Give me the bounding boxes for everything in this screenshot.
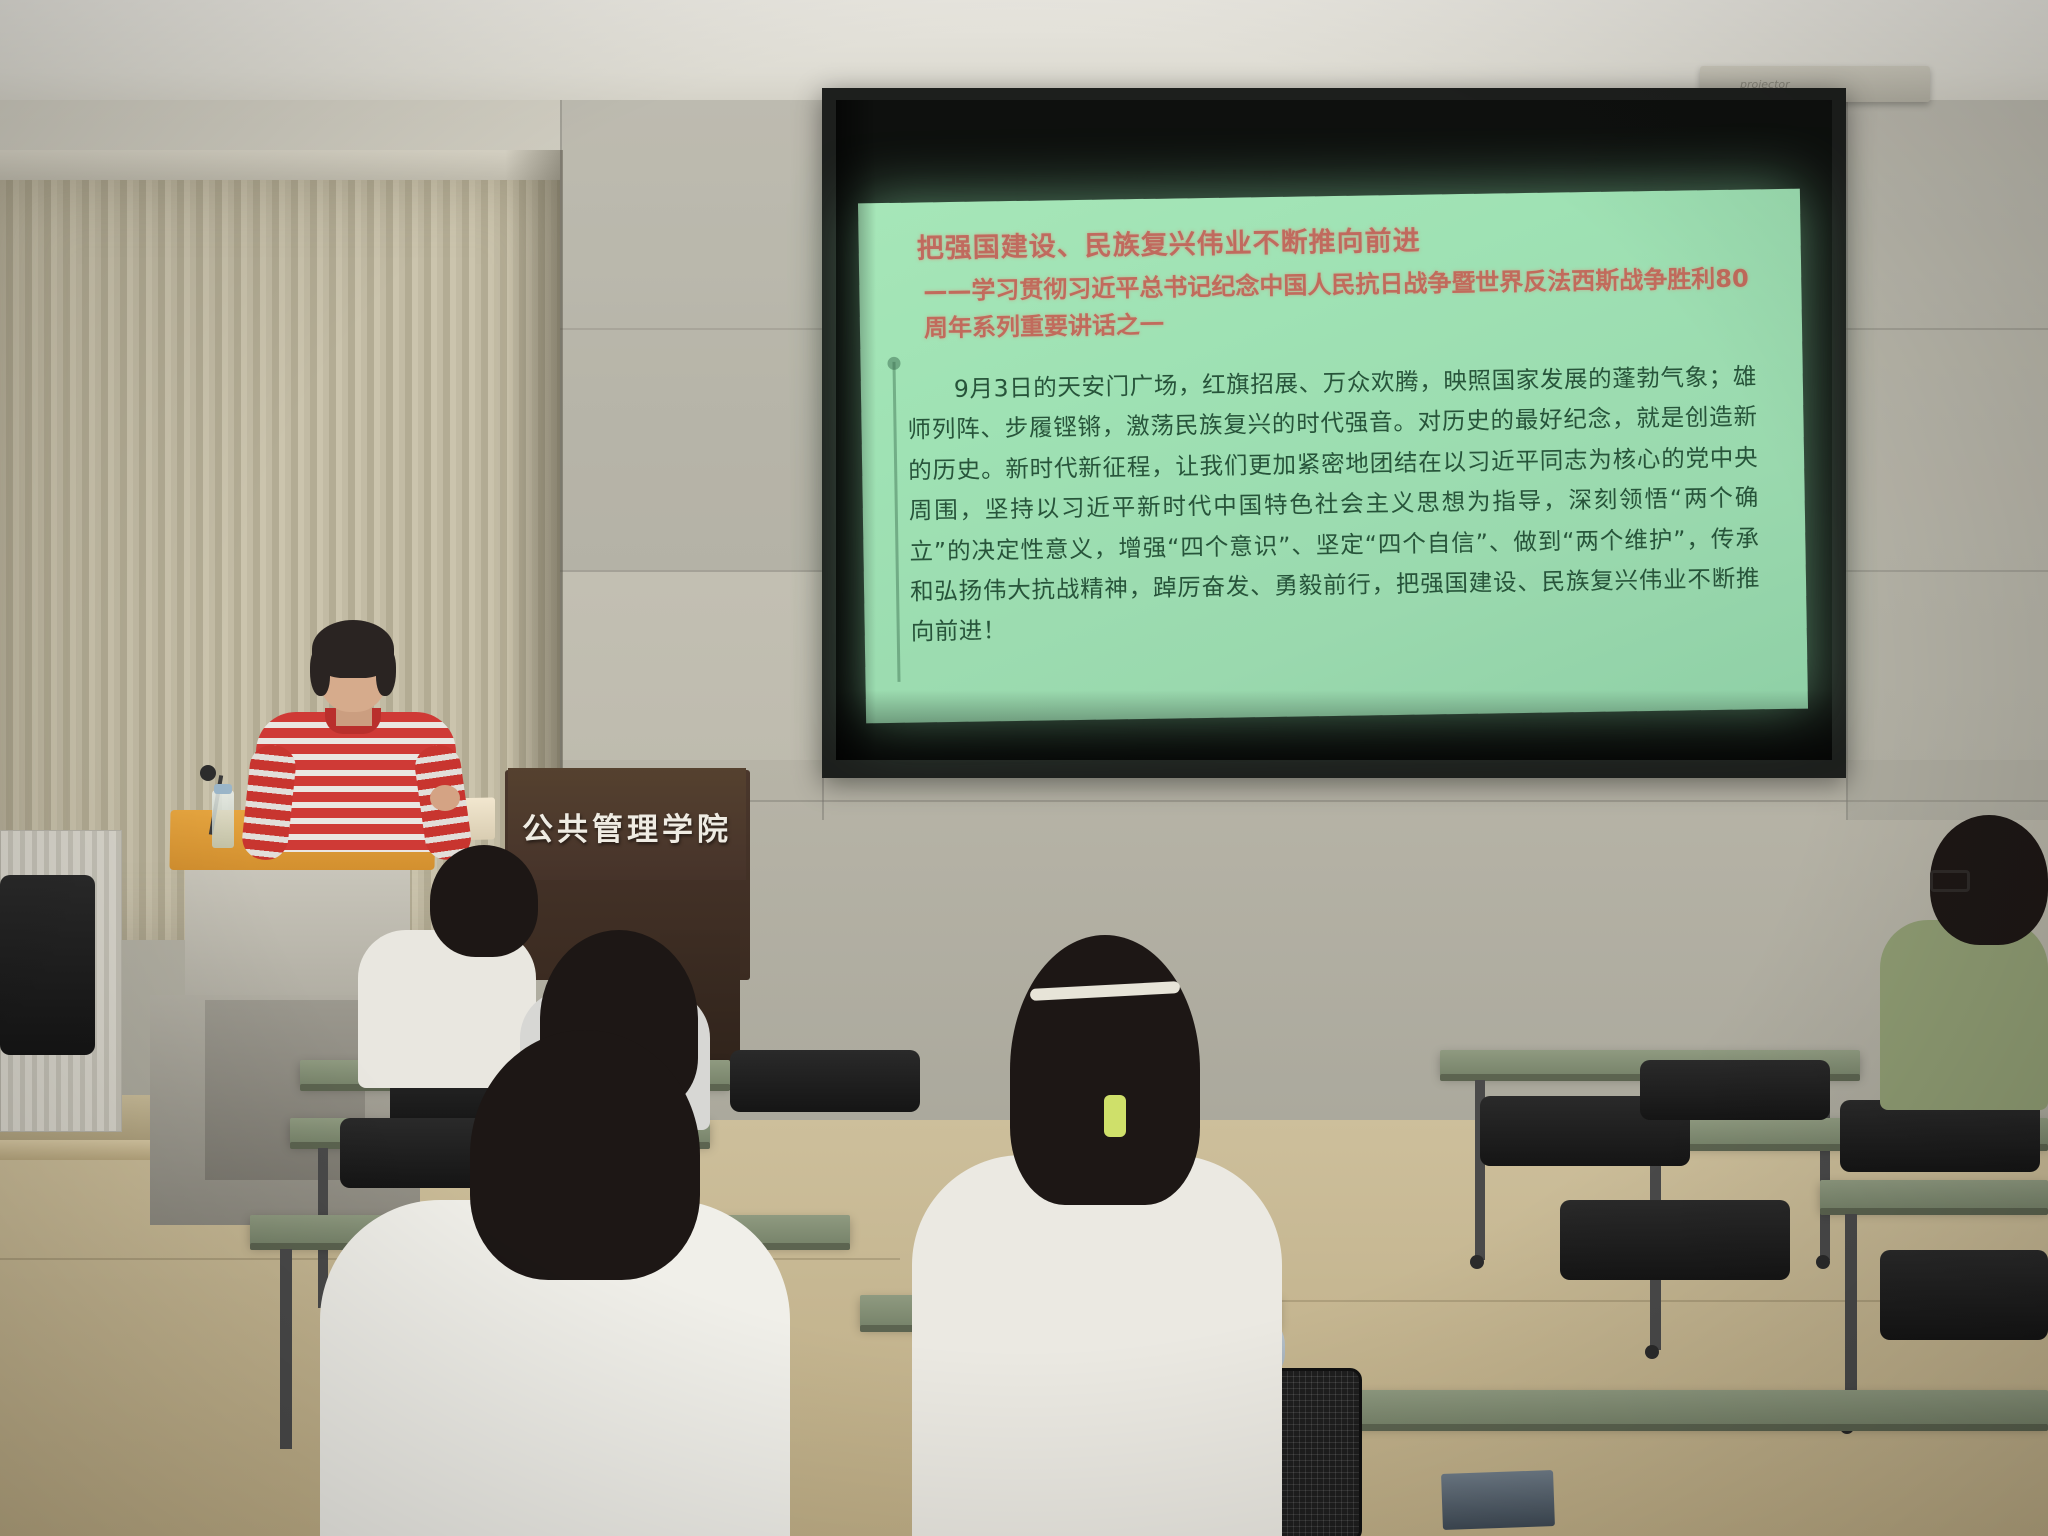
wall-panel — [560, 330, 822, 570]
water-bottle-cap — [214, 784, 232, 794]
slat-panel-header — [0, 150, 560, 184]
audience-member-1-hair — [430, 845, 538, 957]
classroom-chair — [0, 875, 95, 1055]
audience-member-4-hair — [1010, 935, 1200, 1205]
slide-subtitle: ——学习贯彻习近平总书记纪念中国人民抗日战争暨世界反法西斯战争胜利80周年系列重… — [923, 260, 1754, 347]
classroom-chair — [1640, 1060, 1830, 1120]
water-bottle — [212, 790, 234, 848]
audience-member-5-shirt — [1880, 920, 2048, 1110]
slide-title: 把强国建设、民族复兴伟业不断推向前进 — [916, 219, 1421, 266]
wall-panel — [560, 100, 822, 328]
speaker-hair-side-left — [310, 648, 330, 696]
laptop — [1441, 1470, 1555, 1530]
podium-sign: 公共管理学院 — [508, 768, 746, 880]
presentation-slide: 把强国建设、民族复兴伟业不断推向前进 ——学习贯彻习近平总书记纪念中国人民抗日战… — [876, 198, 1789, 712]
speaker-hair-side-right — [376, 648, 396, 696]
wall-panel — [1846, 100, 2048, 820]
classroom-chair — [1880, 1250, 2048, 1340]
student-desk — [1330, 1390, 2048, 1426]
desk-caster — [1470, 1255, 1484, 1269]
slide-accent-bar — [892, 362, 900, 682]
desk-edge — [1330, 1424, 2048, 1431]
audience-member-3-hair — [470, 1030, 700, 1280]
classroom-chair — [1840, 1100, 2040, 1172]
lecture-hall-photo: projector 把强国建设、民族复兴伟业不断推向前进 ——学习贯彻习近平总书… — [0, 0, 2048, 1536]
classroom-chair — [1560, 1200, 1790, 1280]
slide-body-text: 9月3日的天安门广场，红旗招展、万众欢腾，映照国家发展的蓬勃气象；雄师列阵、步履… — [907, 356, 1761, 652]
desk-caster — [1816, 1255, 1830, 1269]
podium-sign-text: 公共管理学院 — [508, 804, 746, 849]
hair-clip-icon — [1104, 1095, 1126, 1137]
student-desk — [1820, 1180, 2048, 1210]
screen-bottom-shading — [836, 690, 1832, 760]
microphone-head — [200, 765, 216, 781]
classroom-chair — [730, 1050, 920, 1112]
audience-member-4-shirt — [912, 1155, 1282, 1536]
speaker-hand — [430, 785, 460, 811]
desk-leg — [280, 1249, 292, 1449]
desk-caster — [1645, 1345, 1659, 1359]
glasses-icon — [1930, 870, 1970, 892]
screen-left-shading — [836, 100, 876, 760]
